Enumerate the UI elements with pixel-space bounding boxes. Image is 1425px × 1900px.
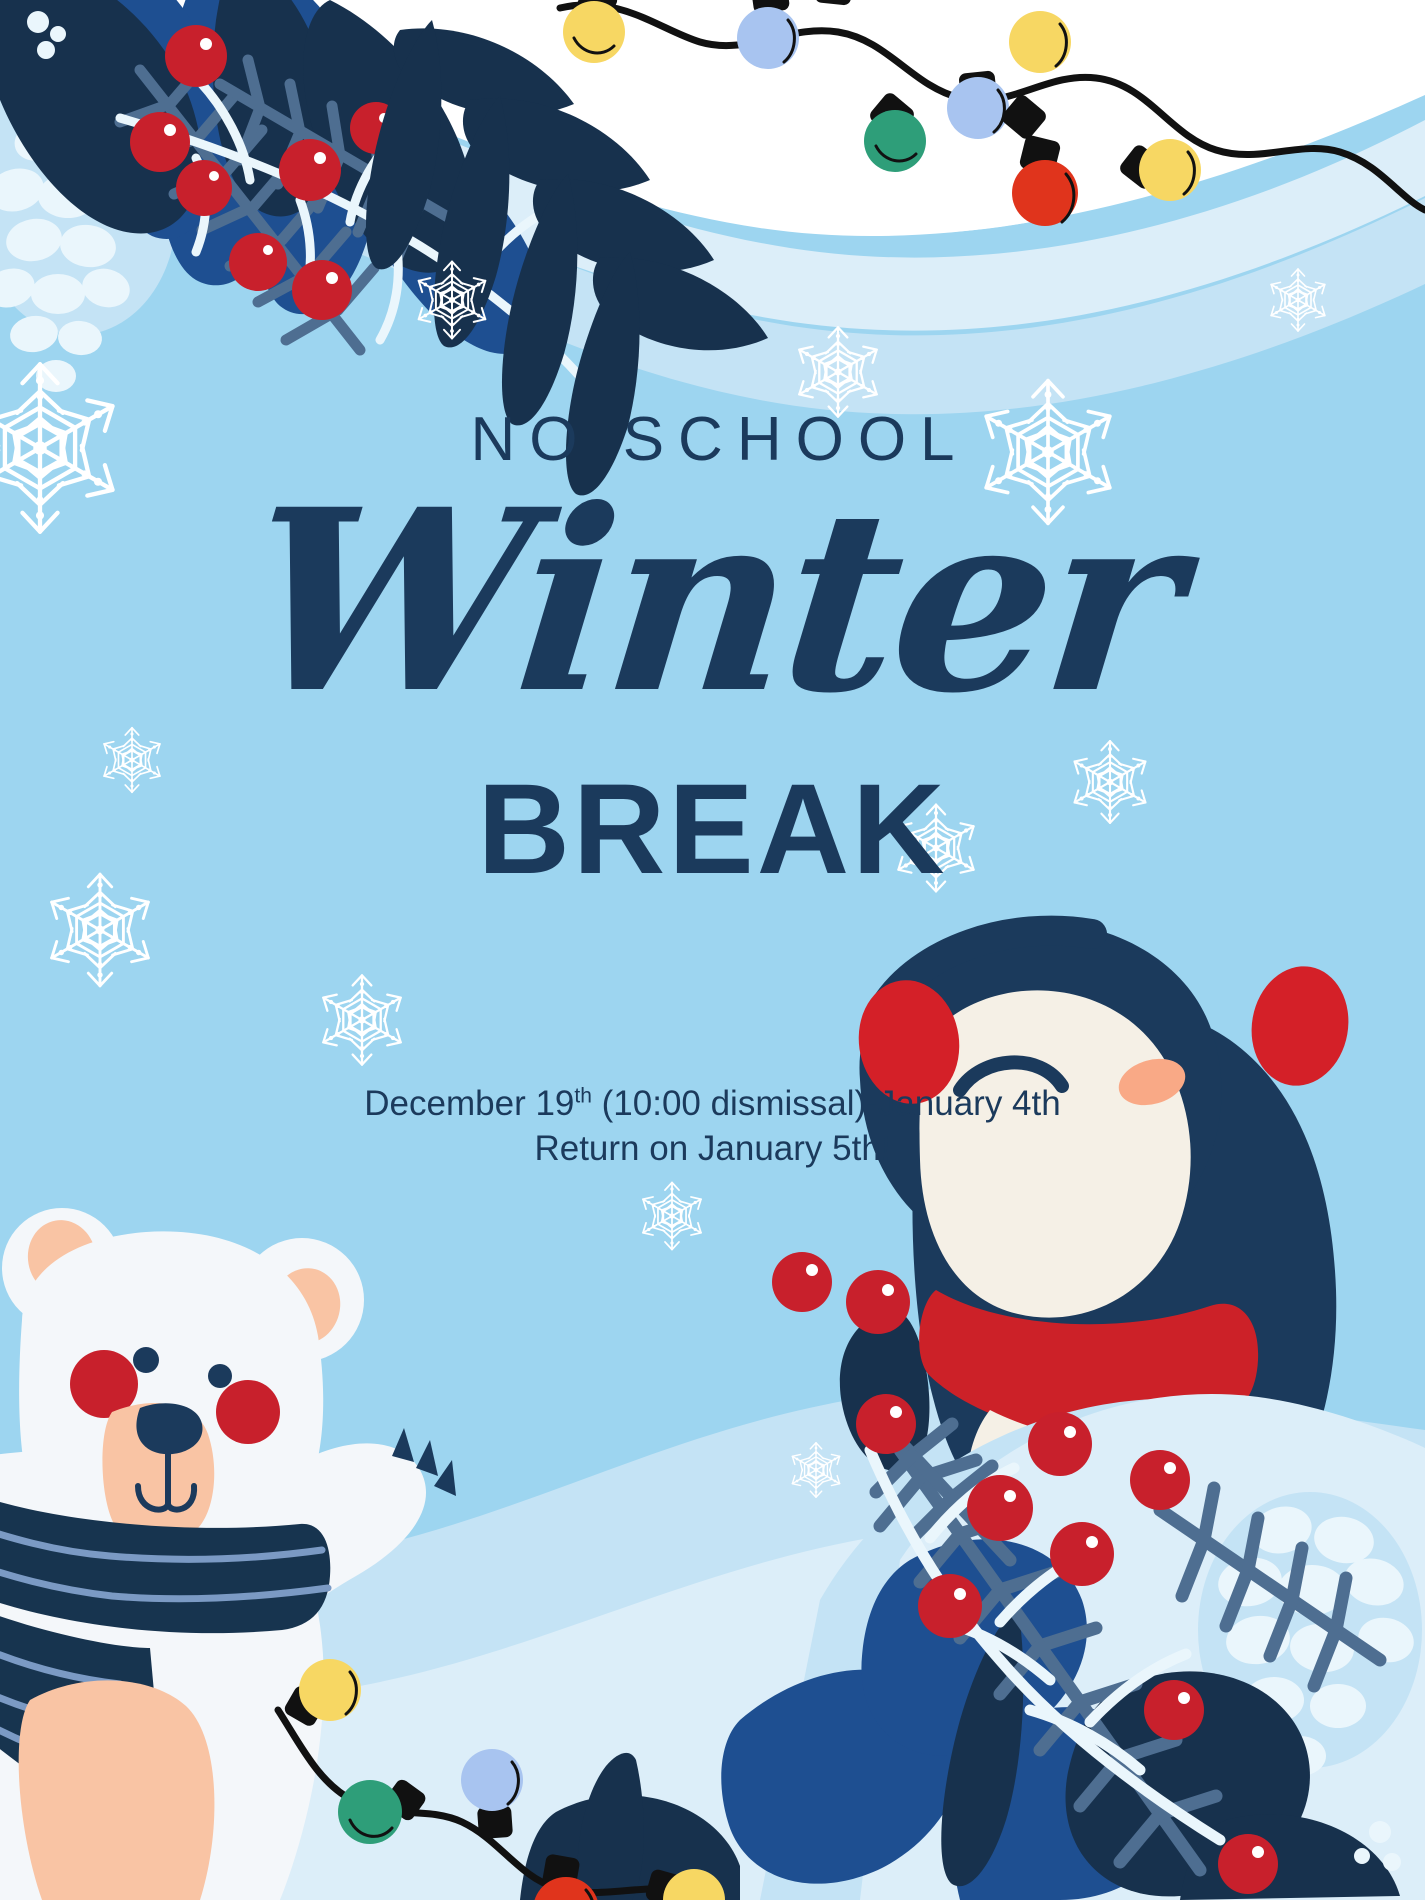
bulb-red-b1 (533, 1853, 599, 1900)
bulb-green-b1 (338, 1777, 428, 1844)
winter-break-poster: NO SCHOOL Winter BREAK December 19th (10… (0, 0, 1425, 1900)
bulb-yellow-b1 (282, 1659, 361, 1728)
bulb-yellow-b2 (644, 1868, 725, 1900)
bottom-string-lights (0, 0, 1425, 1900)
